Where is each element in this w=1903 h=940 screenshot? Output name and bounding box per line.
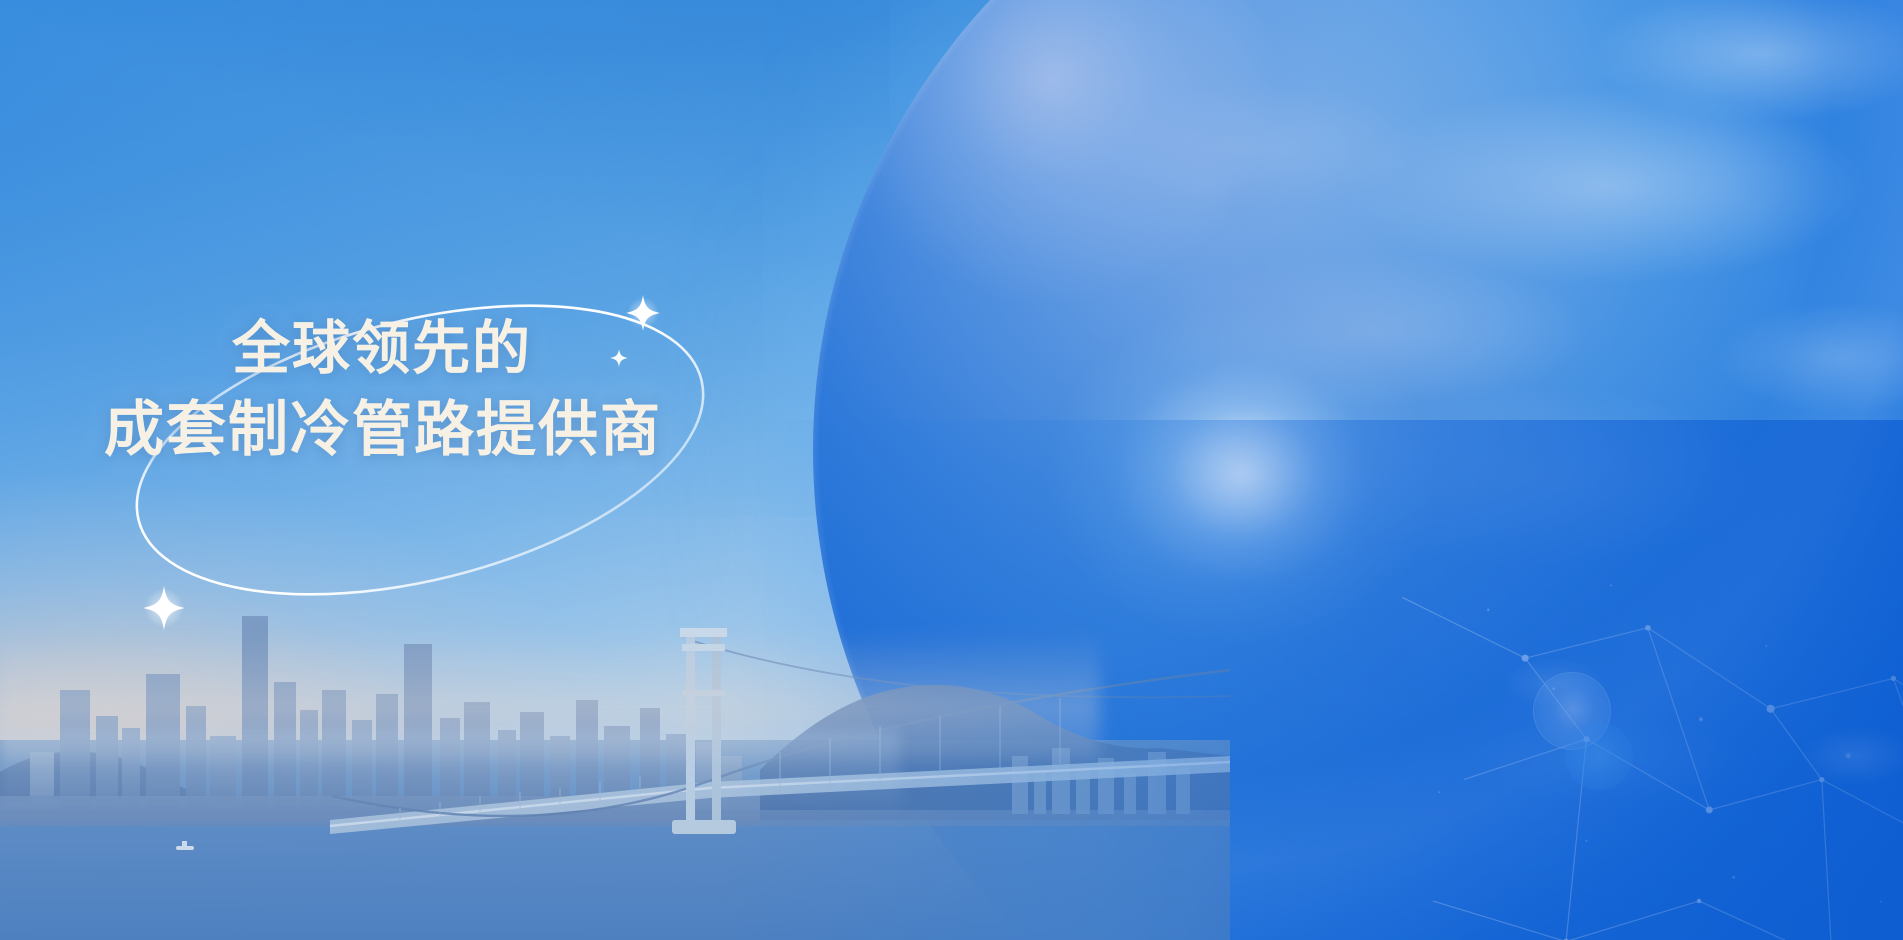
headline-line-1: 全球领先的 xyxy=(232,312,864,386)
earth-globe xyxy=(813,0,1903,940)
hero-banner: 全球领先的 成套制冷管路提供商 xyxy=(0,0,1903,940)
globe-sphere xyxy=(813,0,1903,940)
globe-lit-limb xyxy=(813,0,1903,940)
page-title: 全球领先的 成套制冷管路提供商 xyxy=(104,312,864,469)
headline-line-2: 成套制冷管路提供商 xyxy=(104,392,864,469)
